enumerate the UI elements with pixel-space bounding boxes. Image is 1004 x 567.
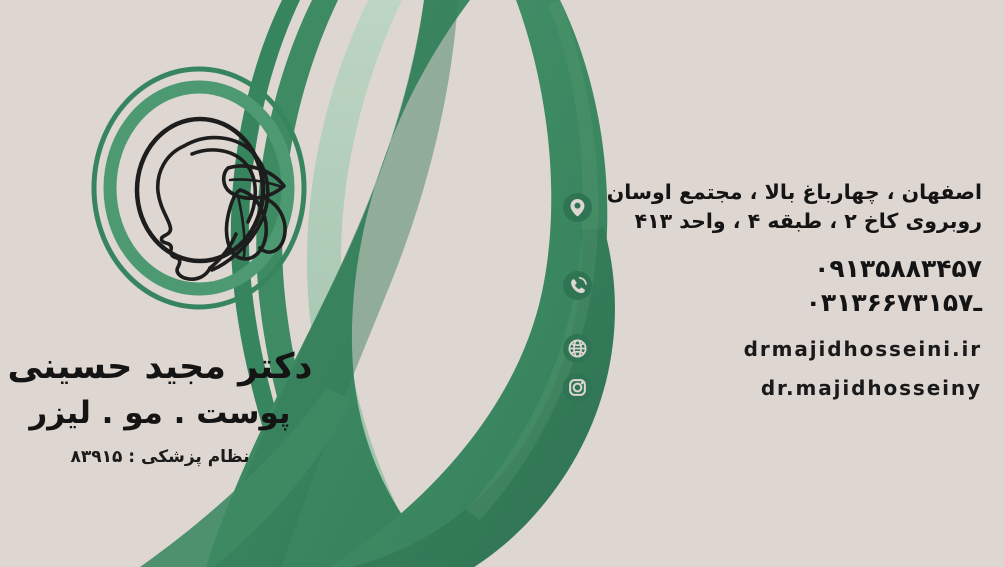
contact-block: اصفهان ، چهارباغ بالا ، مجتمع اوسان روبر…: [562, 178, 982, 403]
contact-row-address: اصفهان ، چهارباغ بالا ، مجتمع اوسان روبر…: [562, 178, 982, 236]
specialties: پوست . مو . لیزر: [0, 393, 320, 435]
medical-license-number: نظام پزشکی : ۸۳۹۱۵: [0, 447, 320, 467]
doctor-name: دکتر مجید حسینی: [0, 348, 320, 387]
website-text: drmajidhosseini.ir: [607, 337, 982, 361]
business-card: دکتر مجید حسینی پوست . مو . لیزر نظام پز…: [0, 0, 1004, 567]
address-line-1: اصفهان ، چهارباغ بالا ، مجتمع اوسان: [607, 178, 982, 207]
phone-text: ۰۹۱۳۵۸۸۳۴۵۷ ۰۳۱ـ۳۶۶۷۳۱۵۷: [607, 252, 982, 319]
location-pin-icon: [562, 192, 593, 223]
contact-row-phone[interactable]: ۰۹۱۳۵۸۸۳۴۵۷ ۰۳۱ـ۳۶۶۷۳۱۵۷: [562, 252, 982, 319]
contact-row-website[interactable]: drmajidhosseini.ir: [562, 333, 982, 364]
contact-row-instagram[interactable]: dr.majidhosseiny: [562, 372, 982, 403]
address-text: اصفهان ، چهارباغ بالا ، مجتمع اوسان روبر…: [607, 178, 982, 236]
clinic-logo: [88, 62, 310, 314]
phone-icon: [562, 270, 593, 301]
instagram-icon: [562, 372, 593, 403]
instagram-text: dr.majidhosseiny: [607, 376, 982, 400]
landline-number[interactable]: ۰۳۱ـ۳۶۶۷۳۱۵۷: [607, 286, 982, 320]
instagram-handle[interactable]: dr.majidhosseiny: [607, 376, 982, 400]
address-line-2: روبروی کاخ ۲ ، طبقه ۴ ، واحد ۴۱۳: [607, 207, 982, 236]
doctor-identity-block: دکتر مجید حسینی پوست . مو . لیزر نظام پز…: [0, 348, 320, 467]
logo-outer-ring: [94, 69, 304, 307]
mobile-number[interactable]: ۰۹۱۳۵۸۸۳۴۵۷: [607, 252, 982, 286]
website-url[interactable]: drmajidhosseini.ir: [607, 337, 982, 361]
globe-icon: [562, 333, 593, 364]
